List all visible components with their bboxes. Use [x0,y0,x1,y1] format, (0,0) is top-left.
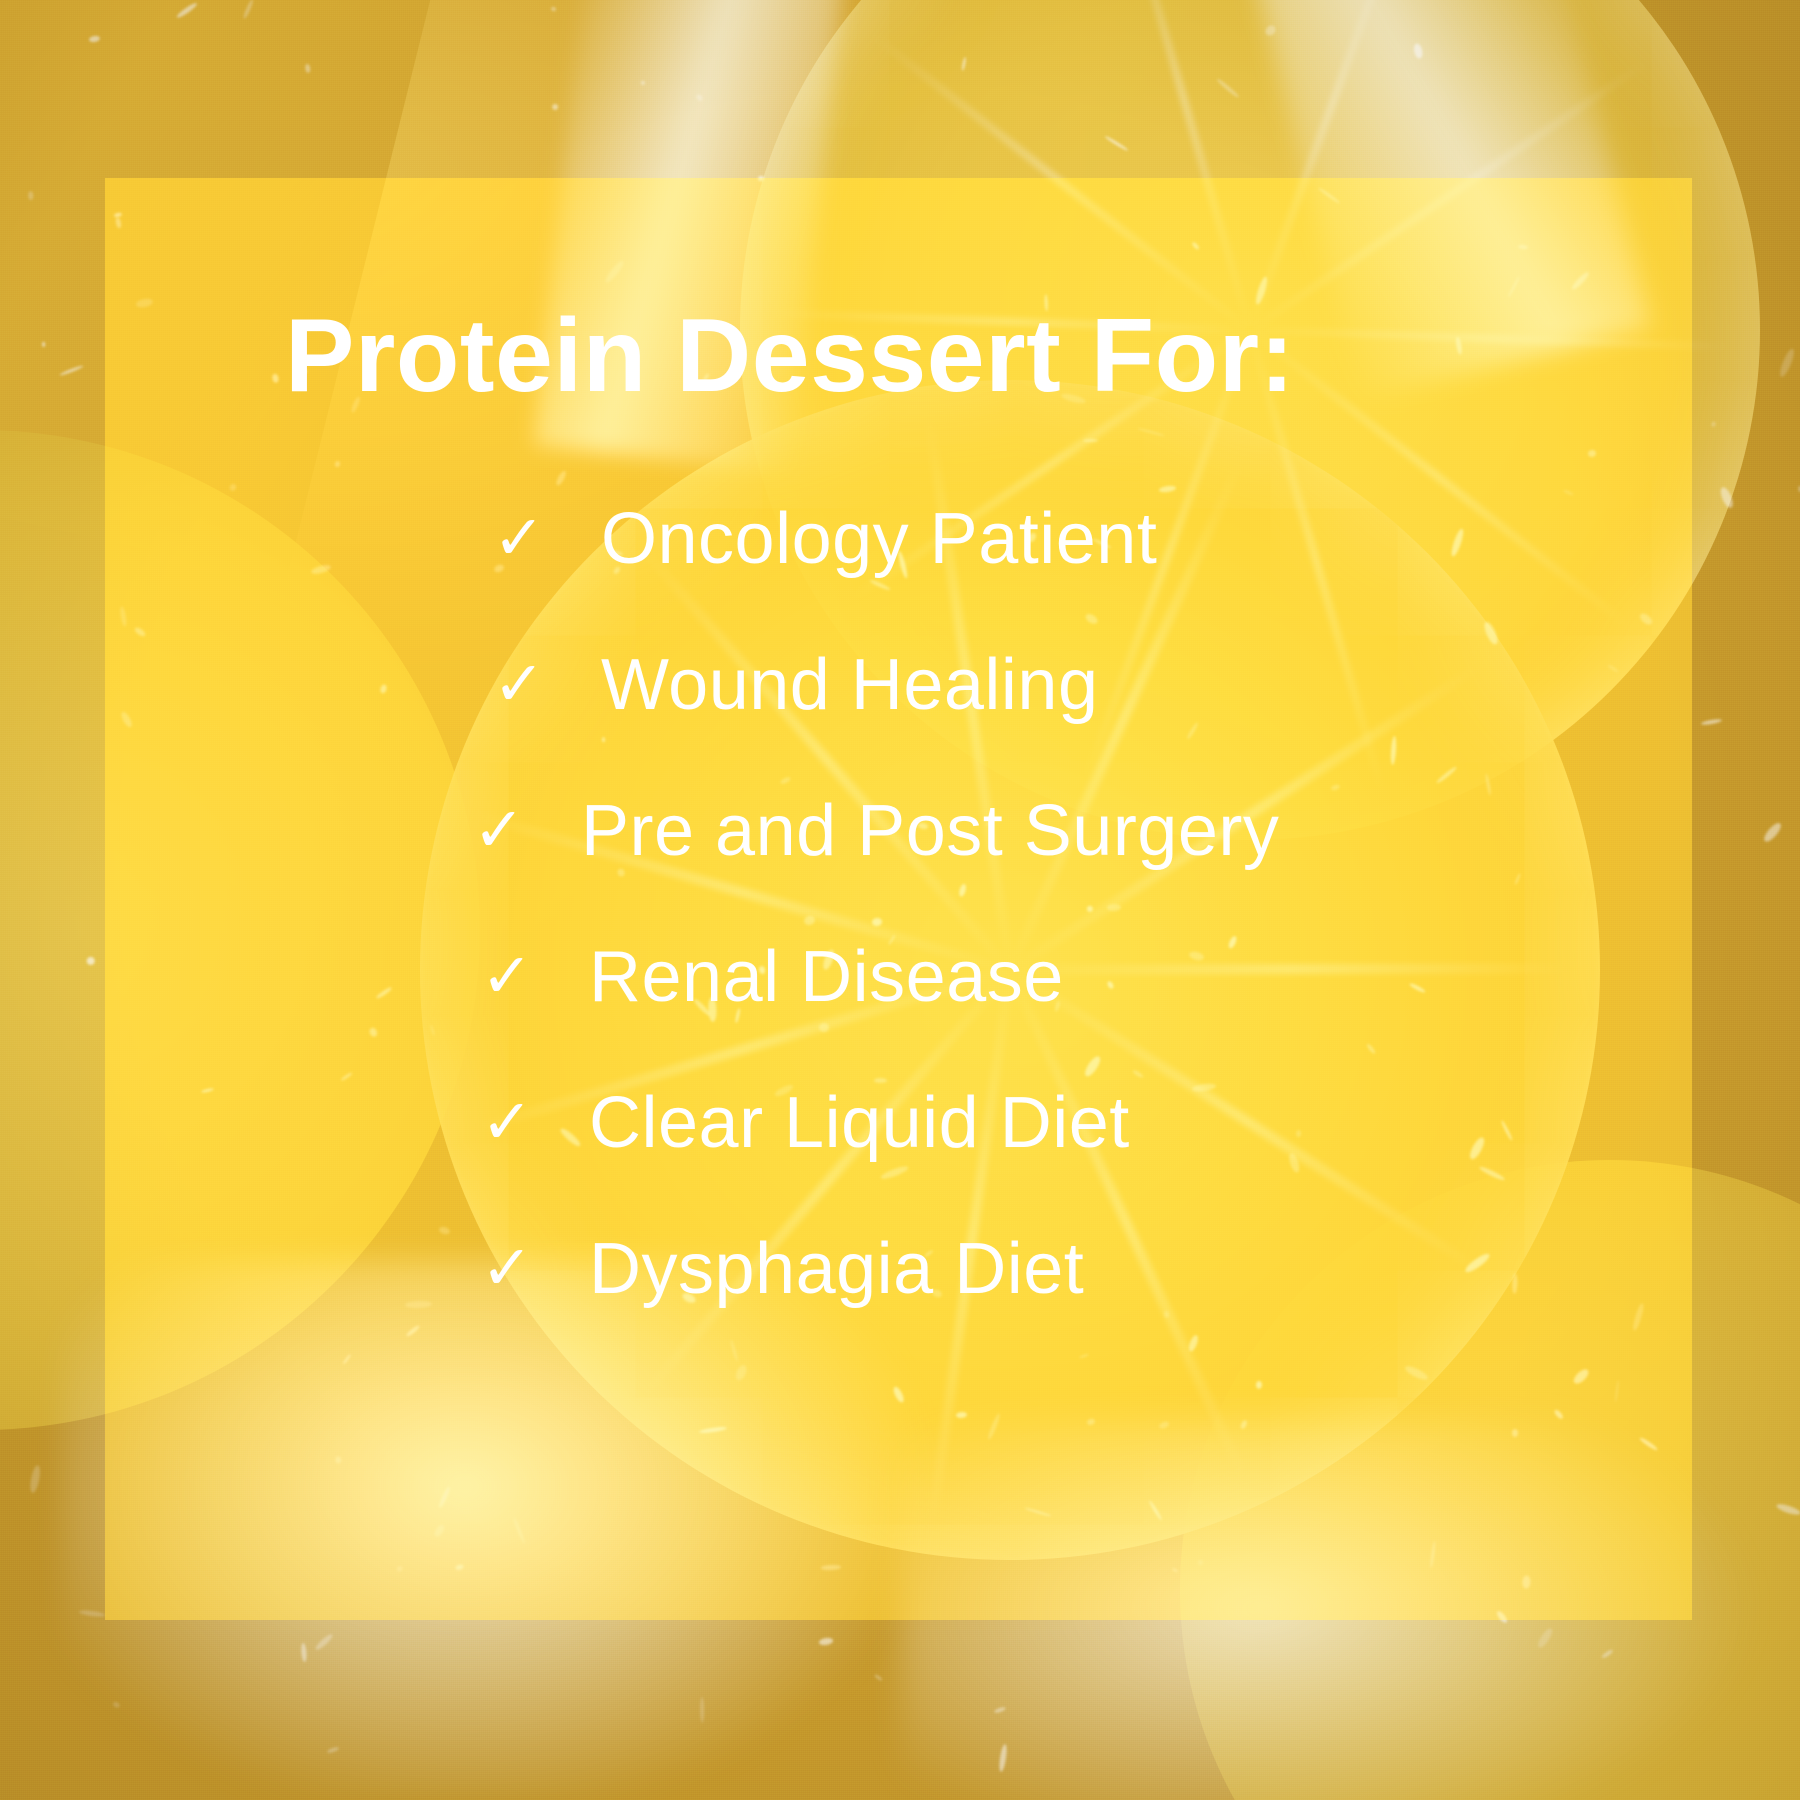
content-area: Protein Dessert For: ✓ Oncology Patient … [105,178,1692,1620]
list-item-label: Renal Disease [589,936,1064,1018]
check-icon: ✓ [435,654,545,716]
list-item-label: Pre and Post Surgery [581,790,1279,872]
list-item-label: Oncology Patient [601,498,1157,580]
check-icon: ✓ [415,800,525,862]
list-item: ✓ Pre and Post Surgery [105,758,1692,904]
check-icon: ✓ [435,508,545,570]
list-item: ✓ Dysphagia Diet [105,1196,1692,1342]
list-item-label: Dysphagia Diet [589,1228,1084,1310]
check-icon: ✓ [423,946,533,1008]
page-title: Protein Dessert For: [285,304,1295,408]
list-item: ✓ Oncology Patient [105,466,1692,612]
promotional-graphic: Protein Dessert For: ✓ Oncology Patient … [0,0,1800,1800]
list-item: ✓ Wound Healing [105,612,1692,758]
list-item-label: Wound Healing [601,644,1099,726]
benefit-checklist: ✓ Oncology Patient ✓ Wound Healing ✓ Pre… [105,466,1692,1342]
check-icon: ✓ [423,1092,533,1154]
check-icon: ✓ [423,1238,533,1300]
list-item: ✓ Clear Liquid Diet [105,1050,1692,1196]
list-item-label: Clear Liquid Diet [589,1082,1130,1164]
list-item: ✓ Renal Disease [105,904,1692,1050]
